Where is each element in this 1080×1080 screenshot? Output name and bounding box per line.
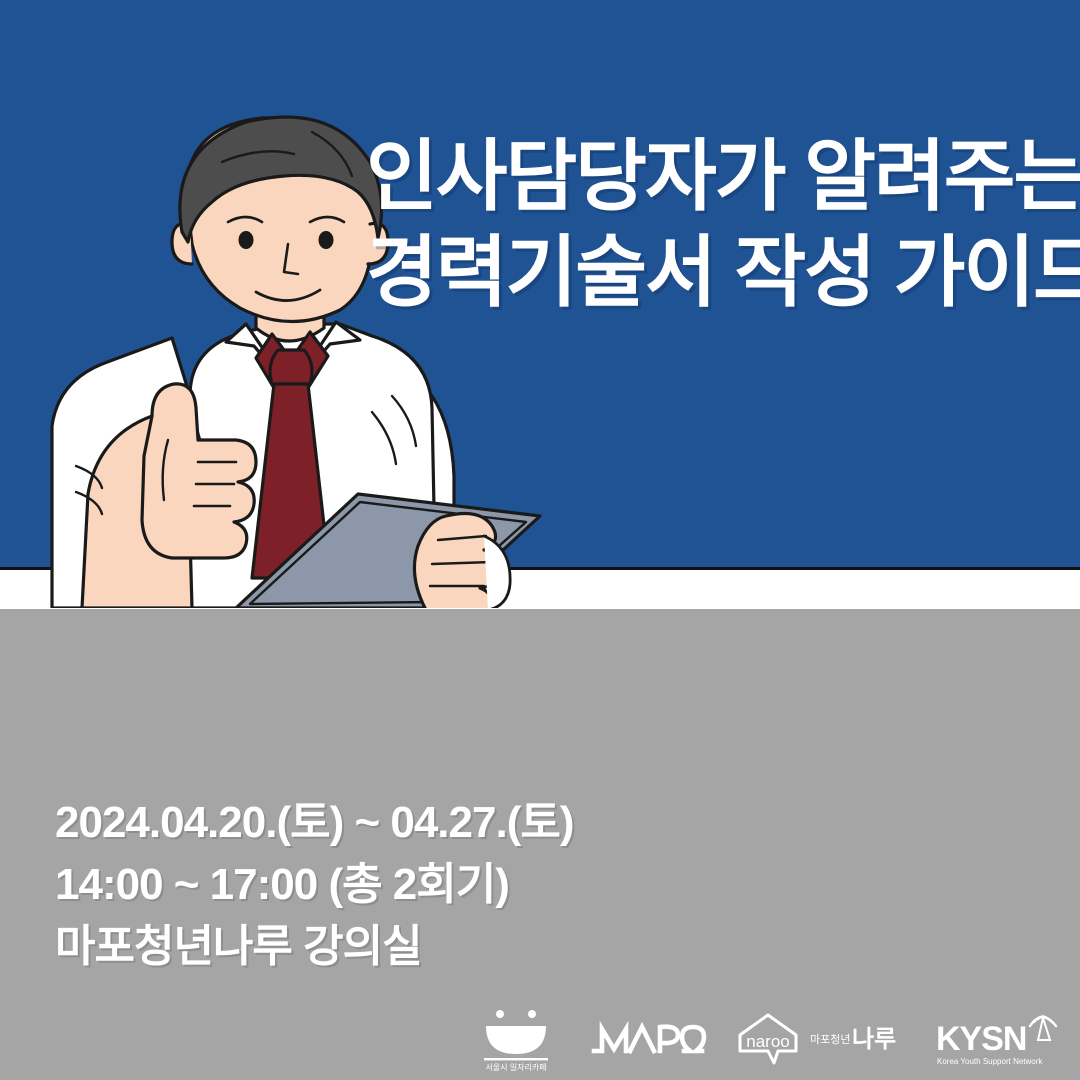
event-venue: 마포청년나루 강의실: [55, 916, 815, 978]
logo-seoul-job-cafe: 서울시 일자리카페: [470, 1006, 562, 1072]
event-date: 2024.04.20.(토) ~ 04.27.(토): [55, 792, 815, 854]
poster-canvas: 인사담당자가 알려주는 경력기술서 작성 가이드 2024.04.20.(토) …: [0, 0, 1080, 1080]
poster-headline: 인사담당자가 알려주는 경력기술서 작성 가이드: [366, 128, 1066, 320]
broadcast-antenna-icon: [1030, 1017, 1056, 1041]
logo-kysn-caption: Korea Youth Support Network: [937, 1057, 1043, 1066]
event-info: 2024.04.20.(토) ~ 04.27.(토) 14:00 ~ 17:00…: [55, 792, 815, 978]
logo-naroo-caption-large: 나루: [852, 1026, 896, 1053]
logo-kysn: KYSN Korea Youth Support Network: [932, 1006, 1060, 1072]
headline-line-1: 인사담당자가 알려주는: [366, 128, 1066, 224]
logo-seoul-caption: 서울시 일자리카페: [485, 1062, 546, 1072]
headline-line-2: 경력기술서 작성 가이드: [366, 224, 1066, 320]
event-time: 14:00 ~ 17:00 (총 2회기): [55, 854, 815, 916]
logo-kysn-wordmark: KYSN: [936, 1020, 1026, 1058]
sponsor-logo-strip: 서울시 일자리카페: [470, 1004, 1060, 1074]
logo-naroo-caption-small: 마포청년: [810, 1033, 850, 1046]
logo-naroo-wordmark: naroo: [746, 1032, 789, 1051]
logo-naroo: naroo 마포청년 나루: [734, 1009, 906, 1069]
logo-mapo: [588, 1015, 708, 1063]
